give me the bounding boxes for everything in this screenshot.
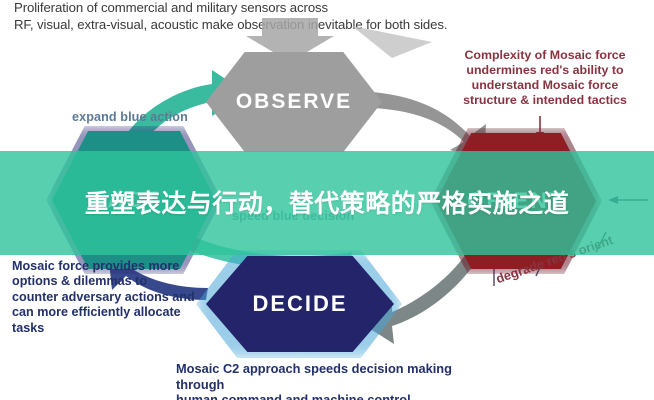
observe-label: OBSERVE: [236, 90, 352, 114]
banner-overlay: 重塑表达与行动，替代策略的严格实施之道: [0, 151, 654, 255]
mosaic-left-line-3: counter adversary actions and: [12, 290, 212, 305]
banner-title: 重塑表达与行动，替代策略的严格实施之道: [21, 185, 633, 222]
complexity-callout: Complexity of Mosaic force undermines re…: [452, 48, 638, 108]
mosaic-left-line-1: Mosaic force provides more: [12, 259, 212, 274]
mosaic-c2-callout: Mosaic C2 approach speeds decision makin…: [176, 361, 496, 400]
mosaic-bottom-line-1: Mosaic C2 approach speeds decision makin…: [176, 361, 496, 392]
complexity-line-3: understand Mosaic force: [452, 78, 638, 93]
complexity-line-4: structure & intended tactics: [452, 93, 638, 108]
expand-blue-action-label: expand blue action: [72, 110, 188, 124]
complexity-line-1: Complexity of Mosaic force: [452, 48, 638, 63]
mosaic-force-callout: Mosaic force provides more options & dil…: [12, 259, 212, 336]
mosaic-bottom-line-2: human command and machine control: [176, 392, 496, 400]
arrow-sensors-to-observe-secondary: [352, 26, 432, 58]
mosaic-left-line-4: can more efficiently allocate tasks: [12, 305, 212, 336]
decide-label: DECIDE: [252, 291, 347, 317]
complexity-line-2: undermines red's ability to: [452, 63, 638, 78]
mosaic-left-line-2: options & dilemmas to: [12, 274, 212, 289]
ooda-loop-diagram: Proliferation of commercial and military…: [0, 0, 654, 400]
